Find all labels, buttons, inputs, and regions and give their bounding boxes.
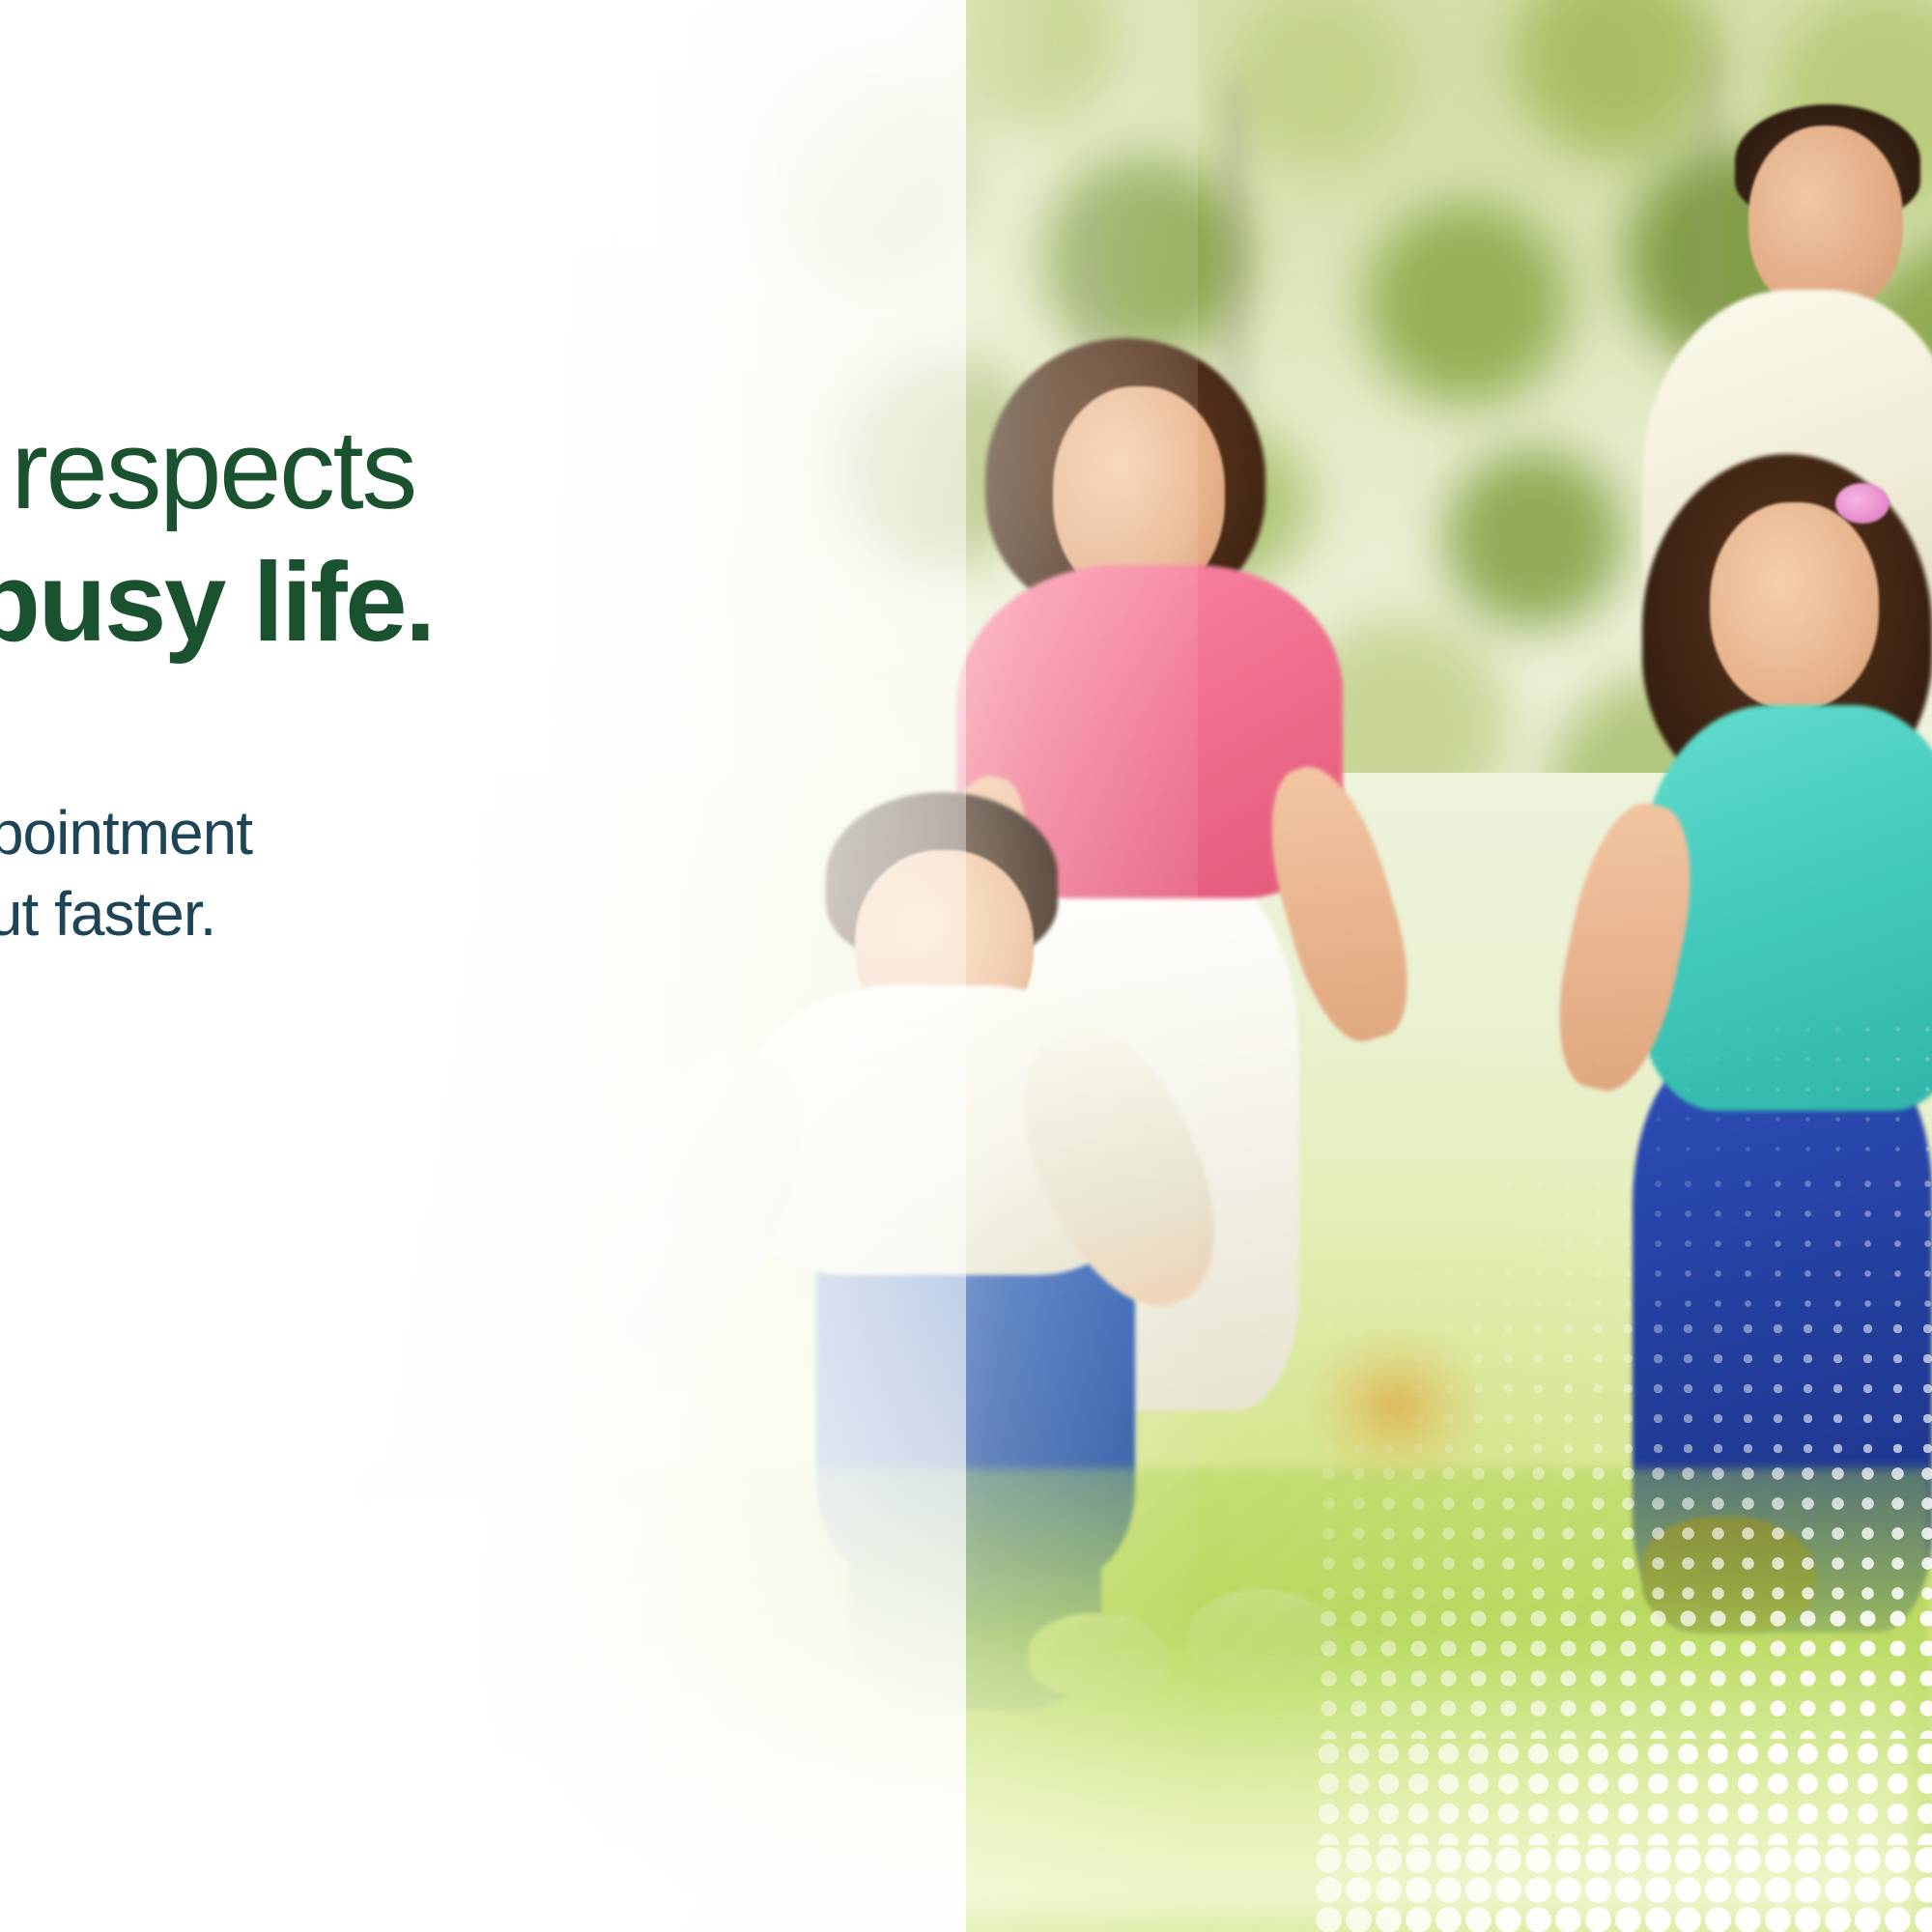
headline-line-1: b that respects: [0, 404, 676, 536]
hero-photo: [0, 0, 1932, 1932]
subcopy: dule an appointment et in and out faster…: [0, 792, 676, 955]
subcopy-line-2: et in and out faster.: [0, 873, 676, 954]
grass-soft-blur: [0, 1623, 1932, 1932]
headline: b that respects your busy life.: [0, 404, 676, 668]
girl-head: [1710, 502, 1879, 710]
girl-hair-clip: [1835, 483, 1889, 524]
copy-block: b that respects your busy life. dule an …: [0, 404, 676, 955]
father-head: [1748, 126, 1903, 314]
hero-banner: b that respects your busy life. dule an …: [0, 0, 1932, 1932]
subcopy-line-1: dule an appointment: [0, 792, 676, 873]
headline-line-2: your busy life.: [0, 536, 676, 668]
headline-line-1-rest: that respects: [0, 407, 415, 532]
